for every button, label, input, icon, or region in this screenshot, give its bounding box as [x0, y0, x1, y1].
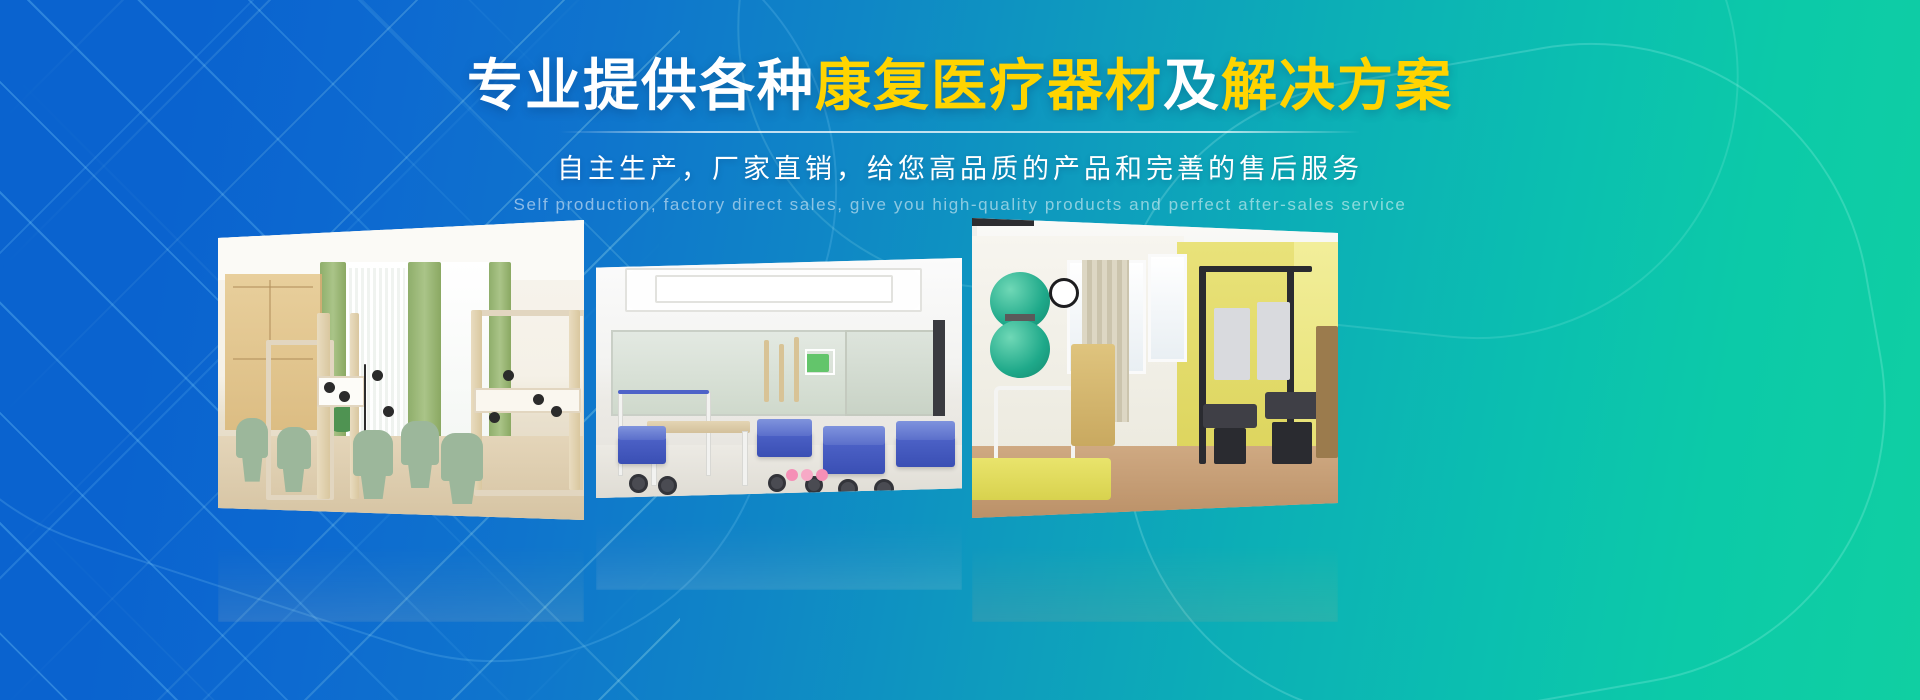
photo-1-inner — [218, 220, 584, 520]
subtitle-english: Self production, factory direct sales, g… — [0, 195, 1920, 215]
headline-segment-3: 及 — [1163, 54, 1221, 119]
divider-line — [560, 131, 1360, 133]
banner-text-block: 专业提供各种康复医疗器材及解决方案 自主生产，厂家直销，给您高品质的产品和完善的… — [0, 58, 1920, 215]
photo-gym-yellow-wall-green-balls[interactable] — [972, 218, 1338, 518]
photo-therapy-hall-blue-equipment[interactable] — [596, 258, 962, 498]
photo-strip — [0, 210, 1920, 540]
photo-3-inner — [972, 218, 1338, 518]
photo-2-inner — [596, 258, 962, 498]
divider — [0, 131, 1920, 133]
headline-segment-2: 康复医疗器材 — [815, 54, 1163, 119]
headline-segment-4: 解决方案 — [1221, 54, 1453, 119]
scene-therapy-hall — [596, 258, 962, 498]
photo-rehab-training-room-green-curtains[interactable] — [218, 220, 584, 520]
scene-rehab-room — [218, 220, 584, 520]
promo-banner: 专业提供各种康复医疗器材及解决方案 自主生产，厂家直销，给您高品质的产品和完善的… — [0, 0, 1920, 700]
scene-gym-room — [972, 218, 1338, 518]
headline-segment-1: 专业提供各种 — [467, 54, 815, 119]
page-title: 专业提供各种康复医疗器材及解决方案 — [0, 58, 1920, 117]
subtitle-chinese: 自主生产，厂家直销，给您高品质的产品和完善的售后服务 — [0, 147, 1920, 186]
